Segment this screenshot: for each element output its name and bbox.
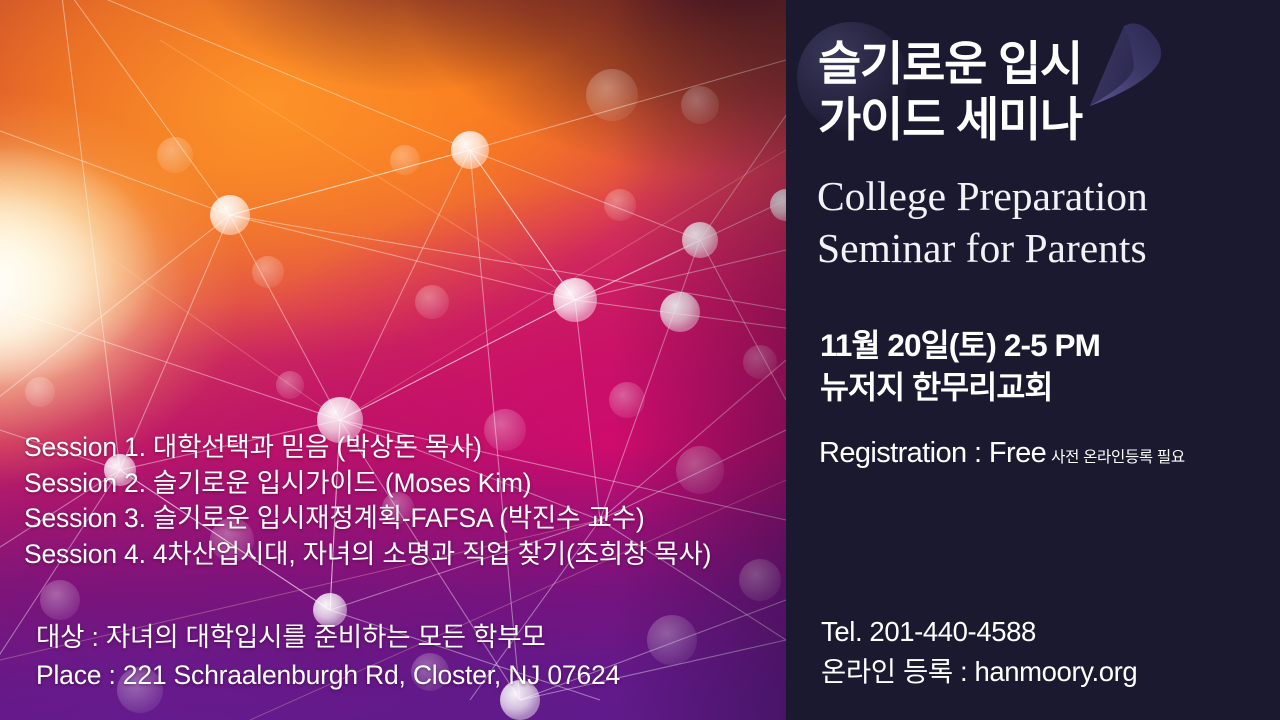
title-line-1: 슬기로운 입시 bbox=[818, 36, 1268, 92]
session-list: Session 1. 대학선택과 믿음 (박상돈 목사) Session 2. … bbox=[24, 430, 784, 572]
background-edge-shade bbox=[0, 0, 786, 720]
registration-label: Registration : Free bbox=[819, 437, 1046, 469]
session-item: Session 4. 4차산업시대, 자녀의 소명과 직업 찾기(조희창 목사) bbox=[24, 537, 784, 573]
registration-note: 사전 온라인등록 필요 bbox=[1051, 449, 1185, 466]
session-item: Session 2. 슬기로운 입시가이드 (Moses Kim) bbox=[24, 466, 784, 502]
background-image-panel: Session 1. 대학선택과 믿음 (박상돈 목사) Session 2. … bbox=[0, 0, 786, 720]
event-date-time: 11월 20일(토) 2-5 PM bbox=[820, 324, 1100, 366]
subtitle-line-1: College Preparation bbox=[817, 170, 1277, 222]
seminar-poster: Session 1. 대학선택과 믿음 (박상돈 목사) Session 2. … bbox=[0, 0, 1280, 720]
audience-and-place-block: 대상 : 자녀의 대학입시를 준비하는 모든 학부모 Place : 221 S… bbox=[36, 618, 620, 694]
event-datetime-block: 11월 20일(토) 2-5 PM 뉴저지 한무리교회 bbox=[820, 324, 1100, 408]
info-panel: 슬기로운 입시 가이드 세미나 College Preparation Semi… bbox=[786, 0, 1280, 720]
title-line-2: 가이드 세미나 bbox=[818, 92, 1268, 148]
session-item: Session 3. 슬기로운 입시재정계획-FAFSA (박진수 교수) bbox=[24, 501, 784, 537]
place-line: Place : 221 Schraalenburgh Rd, Closter, … bbox=[36, 656, 620, 694]
registration-line: Registration : Free사전 온라인등록 필요 bbox=[819, 434, 1185, 477]
session-item: Session 1. 대학선택과 믿음 (박상돈 목사) bbox=[24, 430, 784, 466]
page-subtitle: College Preparation Seminar for Parents bbox=[817, 170, 1277, 274]
audience-line: 대상 : 자녀의 대학입시를 준비하는 모든 학부모 bbox=[36, 618, 620, 656]
contact-block: Tel. 201-440-4588 온라인 등록 : hanmoory.org bbox=[821, 612, 1137, 692]
page-title: 슬기로운 입시 가이드 세미나 bbox=[818, 36, 1268, 148]
contact-phone: Tel. 201-440-4588 bbox=[821, 612, 1137, 652]
subtitle-line-2: Seminar for Parents bbox=[817, 222, 1277, 274]
event-location: 뉴저지 한무리교회 bbox=[820, 366, 1100, 408]
contact-online-signup[interactable]: 온라인 등록 : hanmoory.org bbox=[821, 652, 1137, 692]
